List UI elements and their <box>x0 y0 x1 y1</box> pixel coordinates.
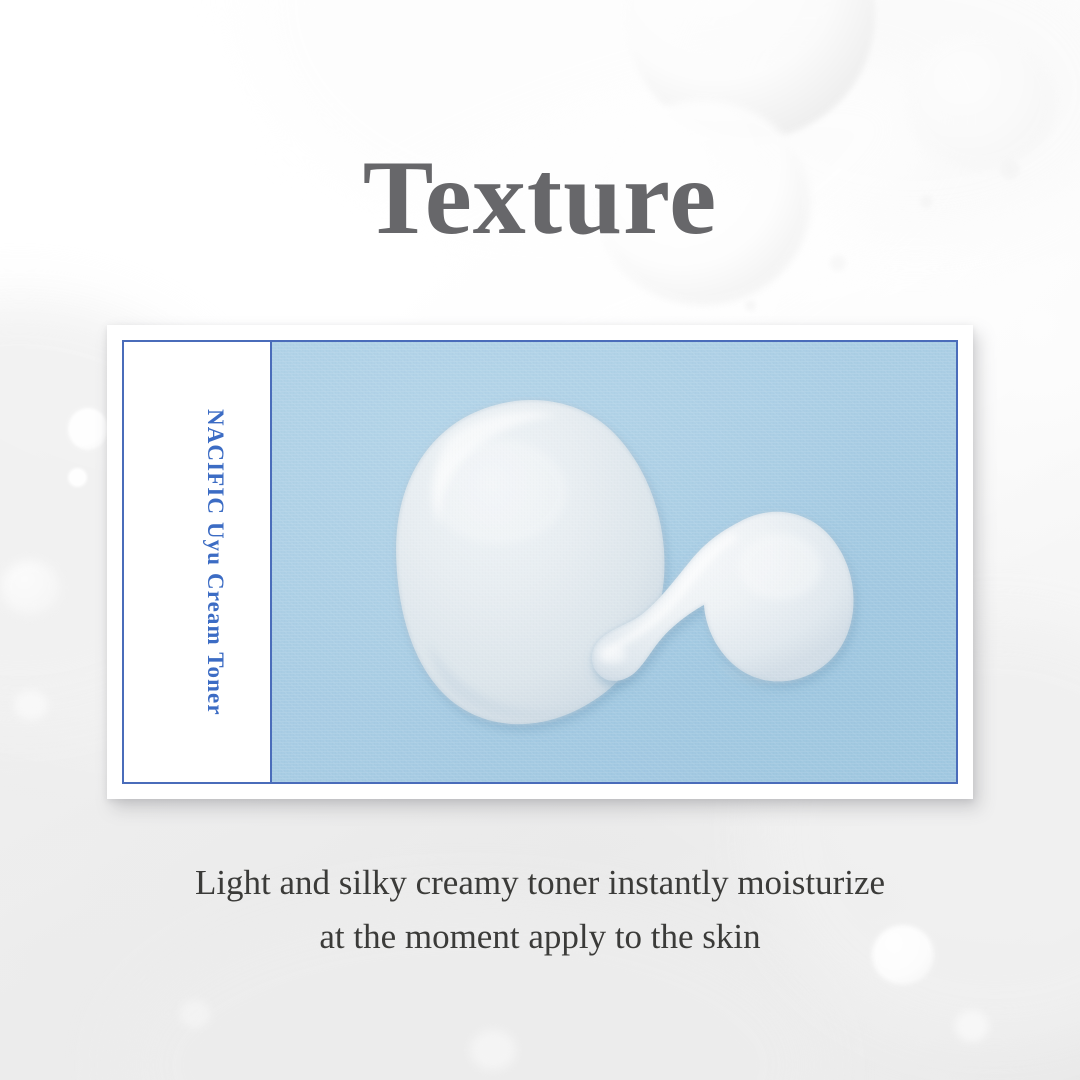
product-texture-card: NACIFIC Uyu Cream Toner <box>107 325 973 799</box>
product-label-panel: NACIFIC Uyu Cream Toner <box>124 342 272 782</box>
caption-line-2: at the moment apply to the skin <box>0 910 1080 964</box>
texture-photo <box>272 342 956 782</box>
caption-line-1: Light and silky creamy toner instantly m… <box>0 856 1080 910</box>
card-inner-frame: NACIFIC Uyu Cream Toner <box>122 340 958 784</box>
cream-droplets-illustration <box>272 342 956 782</box>
product-name-vertical-label: NACIFIC Uyu Cream Toner <box>202 409 228 716</box>
caption-block: Light and silky creamy toner instantly m… <box>0 856 1080 964</box>
page-title: Texture <box>0 142 1080 253</box>
texture-promo-slide: Texture NACIFIC Uyu Cream Toner <box>0 0 1080 1080</box>
